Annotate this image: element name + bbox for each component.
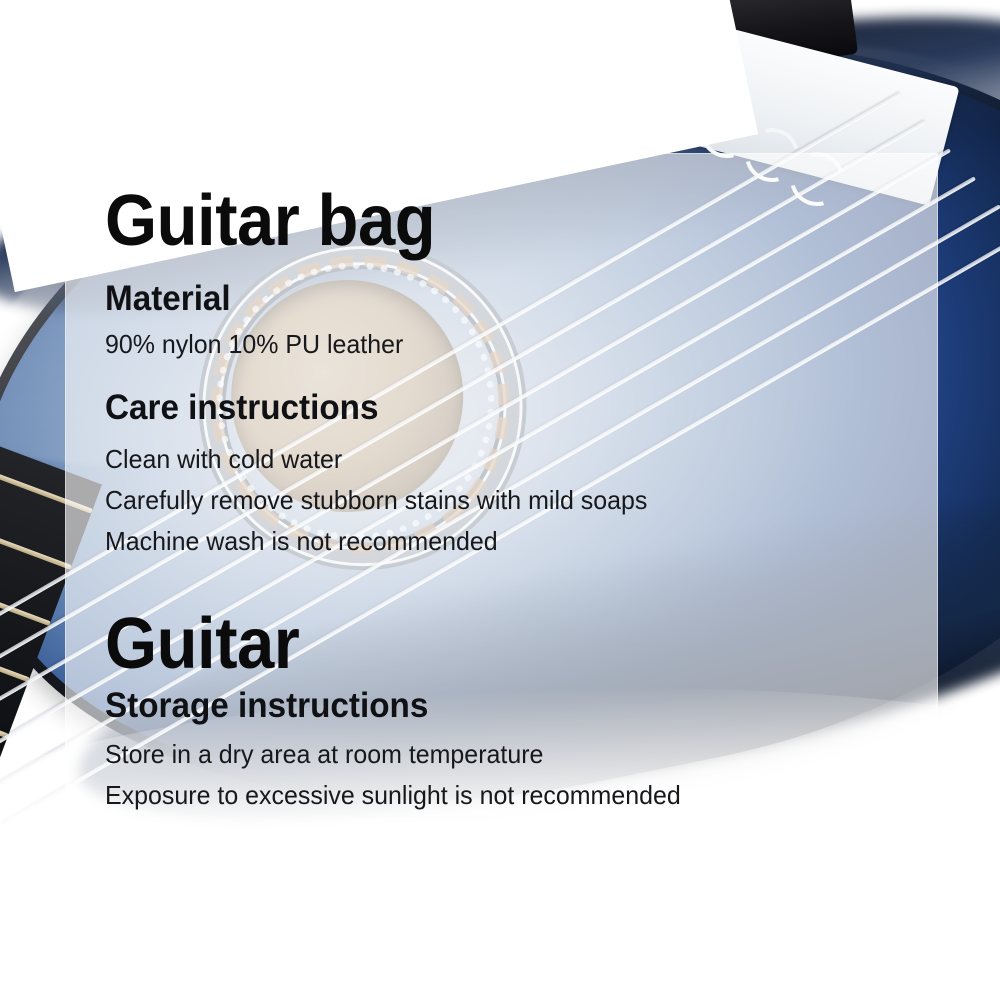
- section-title-guitar: Guitar: [105, 608, 299, 680]
- section-title-guitar-bag: Guitar bag: [105, 185, 435, 257]
- heading-care-instructions: Care instructions: [105, 390, 378, 425]
- material-line-1: 90% nylon 10% PU leather: [105, 331, 403, 357]
- storage-line-1: Store in a dry area at room temperature: [105, 741, 543, 767]
- heading-storage-instructions: Storage instructions: [105, 688, 428, 723]
- heading-material: Material: [105, 281, 231, 316]
- product-info-graphic: Guitar bag Material 90% nylon 10% PU lea…: [0, 0, 1000, 1000]
- care-line-3: Machine wash is not recommended: [105, 528, 498, 554]
- care-line-2: Carefully remove stubborn stains with mi…: [105, 487, 647, 513]
- storage-line-2: Exposure to excessive sunlight is not re…: [105, 782, 681, 808]
- info-panel-content: Guitar bag Material 90% nylon 10% PU lea…: [65, 153, 938, 848]
- care-line-1: Clean with cold water: [105, 446, 342, 472]
